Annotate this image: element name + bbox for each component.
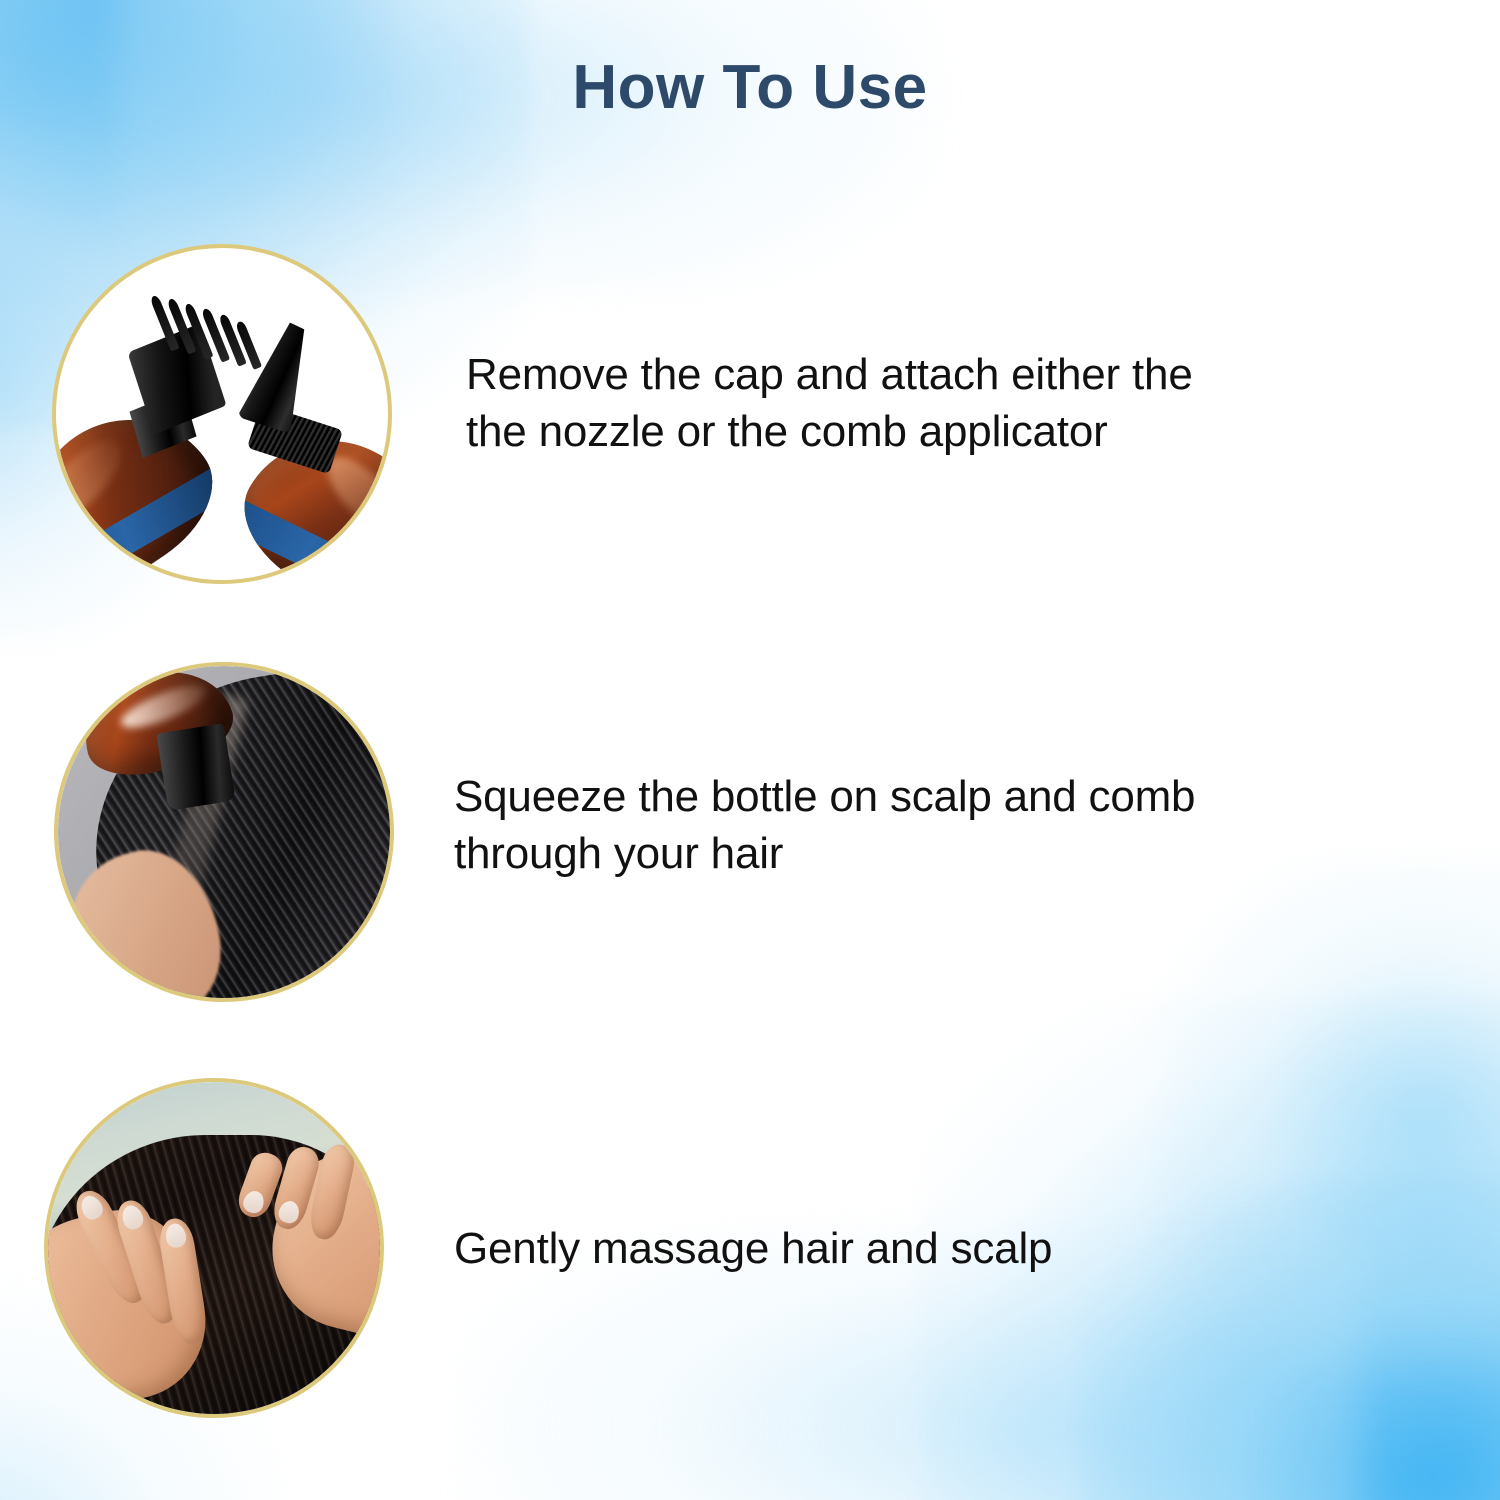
black-nozzle-applicator-step2 xyxy=(156,723,235,811)
fingernail xyxy=(77,1192,105,1222)
how-to-use-infographic: How To Use xyxy=(0,0,1500,1500)
step-3-image-frame xyxy=(44,1078,384,1418)
fingernail xyxy=(276,1199,301,1226)
bottles-with-comb-and-nozzle-applicators xyxy=(56,248,388,580)
bottle-applying-oil-to-scalp-parting xyxy=(58,666,390,998)
step-3-caption: Gently massage hair and scalp xyxy=(454,1220,1354,1277)
step-row-1: Remove the cap and attach either the the… xyxy=(0,238,1500,598)
hands-massaging-scalp xyxy=(48,1082,380,1414)
step-row-3: Gently massage hair and scalp xyxy=(0,1072,1500,1432)
step-1-caption: Remove the cap and attach either the the… xyxy=(466,346,1366,460)
step-2-caption: Squeeze the bottle on scalp and comb thr… xyxy=(454,768,1384,882)
step-1-image-frame xyxy=(52,244,392,584)
step-2-image-frame xyxy=(54,662,394,1002)
page-title: How To Use xyxy=(0,52,1500,123)
nozzle-cone xyxy=(237,316,323,434)
fingernail xyxy=(119,1203,145,1232)
fingernail xyxy=(164,1222,188,1249)
step-row-2: Squeeze the bottle on scalp and comb thr… xyxy=(0,658,1500,1018)
fingernail xyxy=(241,1188,267,1216)
